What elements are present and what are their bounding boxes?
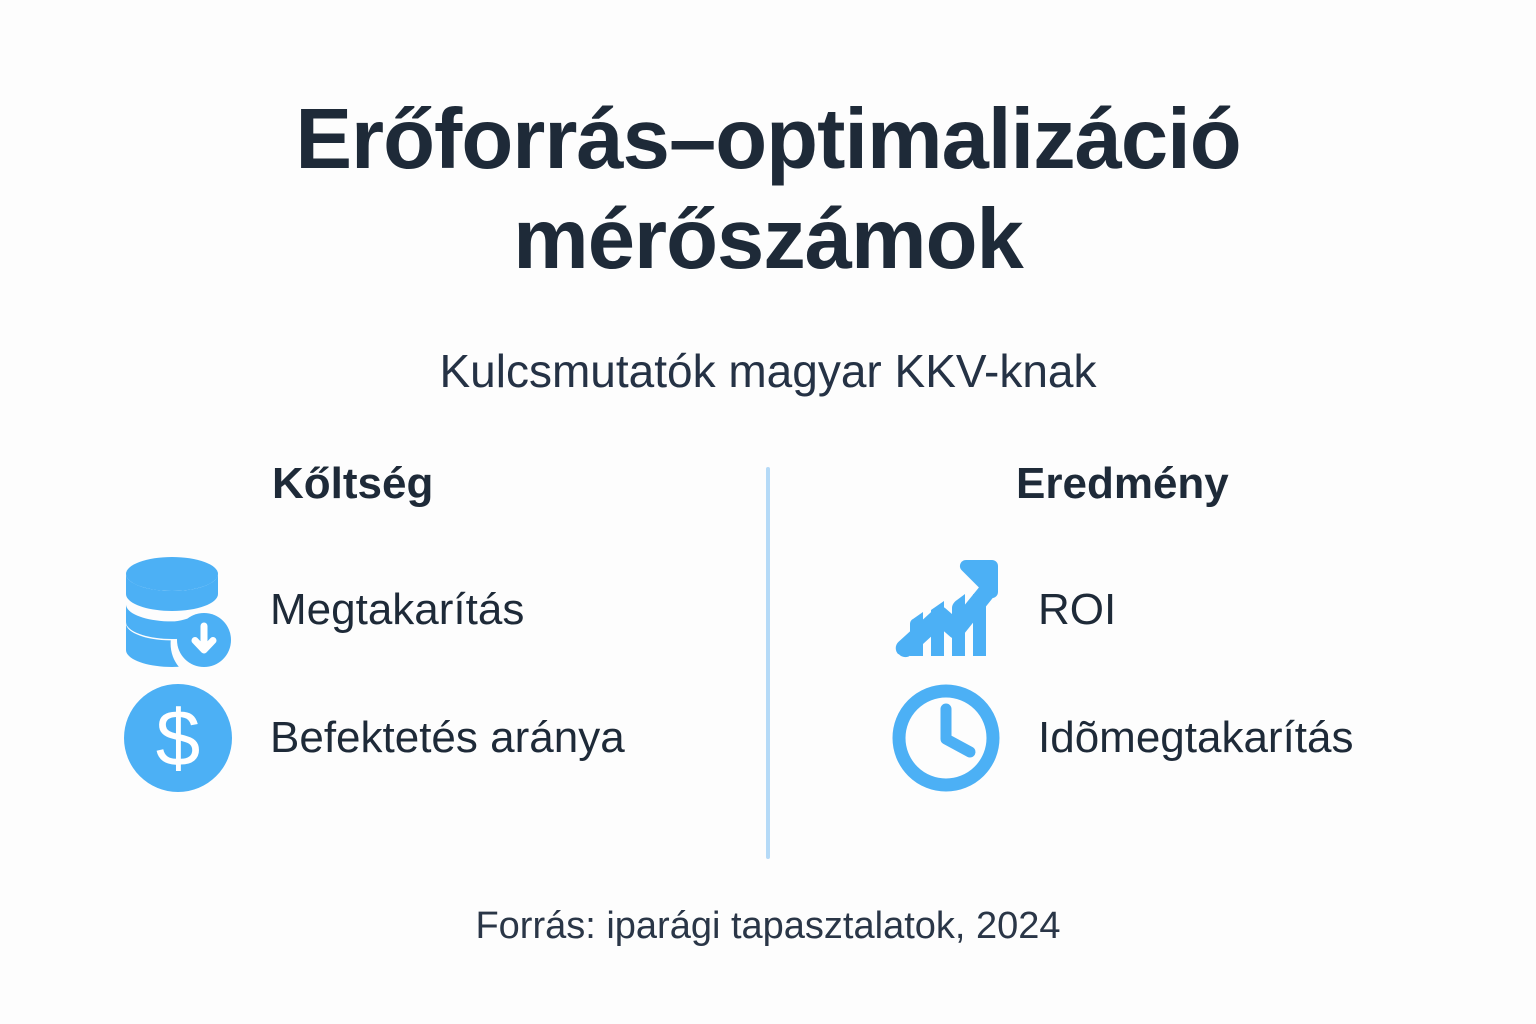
column-cost: Kőltség Megtakarítás: [0, 462, 768, 862]
page-title: Erőforrás–optimalizáció mérőszámok: [0, 90, 1536, 291]
list-item-label: Idõmegtakarítás: [1038, 714, 1354, 762]
list-item-label: ROI: [1038, 586, 1116, 634]
column-result: Eredmény ROI: [768, 462, 1536, 862]
coin-stack-down-arrow-icon: [120, 552, 236, 668]
column-header-result: Eredmény: [888, 462, 1506, 546]
list-item[interactable]: Idõmegtakarítás: [888, 674, 1506, 802]
source-footer: Forrás: iparági tapasztalatok, 2024: [0, 905, 1536, 948]
infographic-canvas: Erőforrás–optimalizáció mérőszámok Kulcs…: [0, 0, 1536, 1024]
page-subtitle: Kulcsmutatók magyar KKV-knak: [0, 344, 1536, 399]
clock-icon: [888, 680, 1004, 796]
list-item-label: Megtakarítás: [270, 586, 524, 634]
list-item-label: Befektetés aránya: [270, 714, 625, 762]
column-header-cost: Kőltség: [120, 462, 738, 546]
list-item[interactable]: $ Befektetés aránya: [120, 674, 738, 802]
columns-container: Kőltség Megtakarítás: [0, 462, 1536, 862]
list-item[interactable]: Megtakarítás: [120, 546, 738, 674]
svg-text:$: $: [156, 694, 201, 783]
growth-chart-arrow-icon: [888, 552, 1004, 668]
dollar-circle-icon: $: [120, 680, 236, 796]
list-item[interactable]: ROI: [888, 546, 1506, 674]
